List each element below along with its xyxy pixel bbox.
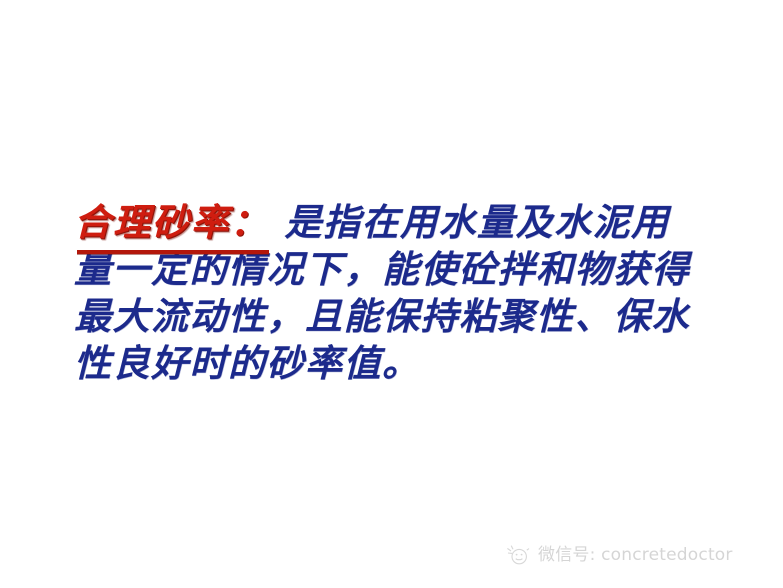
- wechat-smiley-icon: [505, 542, 531, 568]
- text-line-4: 性良好时的砂率值。: [74, 340, 708, 387]
- heading-underline-bar: [77, 250, 269, 254]
- text-line-1: 合理砂率：是指在用水量及水泥用: [74, 199, 708, 246]
- definition-text-block: 合理砂率：是指在用水量及水泥用 量一定的情况下，能使砼拌和物获得 最大流动性，且…: [74, 199, 708, 387]
- text-line-1-body: 是指在用水量及水泥用: [285, 200, 670, 244]
- slide-canvas: 合理砂率：是指在用水量及水泥用 量一定的情况下，能使砼拌和物获得 最大流动性，且…: [0, 0, 783, 588]
- heading-term-heli-shalv: 合理砂率: [74, 200, 230, 244]
- text-line-3-body: 最大流动性，且能保持粘聚性、保水: [74, 294, 690, 338]
- watermark: 微信号: concretedoctor: [505, 542, 733, 568]
- text-line-3: 最大流动性，且能保持粘聚性、保水: [74, 293, 708, 340]
- heading-colon: ：: [230, 200, 269, 244]
- text-line-4-body: 性良好时的砂率值。: [74, 341, 421, 385]
- watermark-text: 微信号: concretedoctor: [538, 545, 733, 565]
